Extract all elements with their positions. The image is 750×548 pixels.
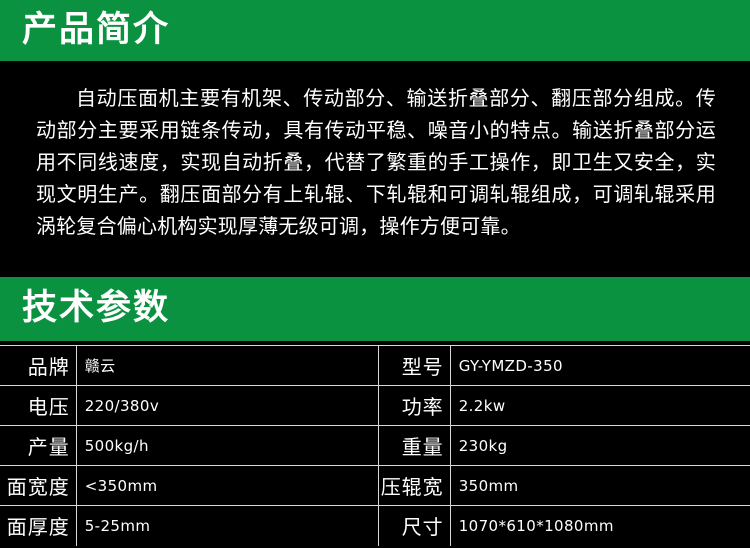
spec-label: 压辊宽 <box>378 466 450 506</box>
table-row: 面厚度 5-25mm 尺寸 1070*610*1080mm <box>0 506 750 546</box>
spec-value: 赣云 <box>76 346 378 386</box>
spec-value: <350mm <box>76 466 378 506</box>
spec-label: 型号 <box>378 346 450 386</box>
product-detail-page: 产品简介 自动压面机主要有机架、传动部分、输送折叠部分、翻压部分组成。传动部分主… <box>0 0 750 548</box>
table-row: 电压 220/380v 功率 2.2kw <box>0 386 750 426</box>
intro-text-block: 自动压面机主要有机架、传动部分、输送折叠部分、翻压部分组成。传动部分主要采用链条… <box>36 82 716 242</box>
section-banner-specs: 技术参数 <box>0 277 750 341</box>
spec-table-body: 品牌 赣云 型号 GY-YMZD-350 电压 220/380v 功率 2.2k… <box>0 346 750 546</box>
spec-label: 品牌 <box>0 346 76 386</box>
spec-label: 电压 <box>0 386 76 426</box>
spec-label: 重量 <box>378 426 450 466</box>
section-heading-specs: 技术参数 <box>22 291 170 326</box>
spec-value: 350mm <box>450 466 750 506</box>
section-banner-intro: 产品简介 <box>0 0 750 61</box>
spec-label: 产量 <box>0 426 76 466</box>
spec-label: 面厚度 <box>0 506 76 546</box>
spec-value: 220/380v <box>76 386 378 426</box>
spec-value: 5-25mm <box>76 506 378 546</box>
spec-label: 功率 <box>378 386 450 426</box>
intro-paragraph: 自动压面机主要有机架、传动部分、输送折叠部分、翻压部分组成。传动部分主要采用链条… <box>36 82 716 242</box>
spec-label: 面宽度 <box>0 466 76 506</box>
spec-table: 品牌 赣云 型号 GY-YMZD-350 电压 220/380v 功率 2.2k… <box>0 345 750 546</box>
spec-value: 2.2kw <box>450 386 750 426</box>
spec-value: 1070*610*1080mm <box>450 506 750 546</box>
section-heading-intro: 产品简介 <box>22 13 170 48</box>
spec-value: 500kg/h <box>76 426 378 466</box>
table-row: 面宽度 <350mm 压辊宽 350mm <box>0 466 750 506</box>
spec-value: GY-YMZD-350 <box>450 346 750 386</box>
table-row: 产量 500kg/h 重量 230kg <box>0 426 750 466</box>
spec-label: 尺寸 <box>378 506 450 546</box>
table-row: 品牌 赣云 型号 GY-YMZD-350 <box>0 346 750 386</box>
spec-value: 230kg <box>450 426 750 466</box>
